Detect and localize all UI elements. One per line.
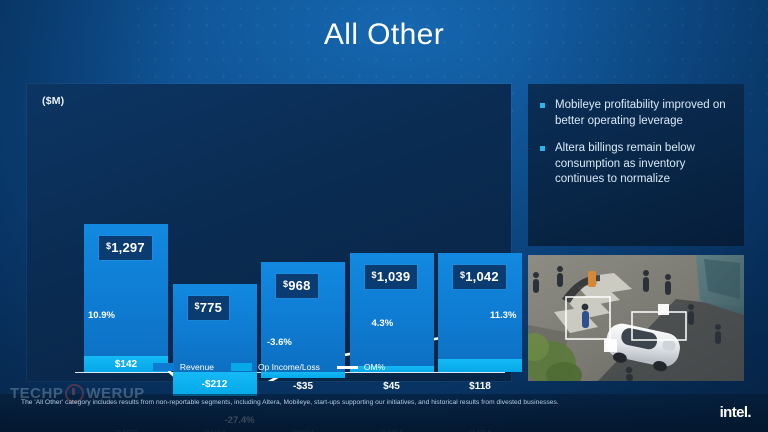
om-percent-label: 4.3% bbox=[372, 318, 394, 329]
chart-plot-area: $1,297$14210.9%Q4'23$775-$212-27.4%Q1'24… bbox=[27, 84, 511, 381]
op-income-value-label: $118 bbox=[438, 381, 522, 392]
op-income-value-label: $45 bbox=[350, 381, 434, 392]
intel-logo: intel. bbox=[720, 404, 751, 421]
chart-panel: ($M) $1,297$14210.9%Q4'23$775-$212-27.4%… bbox=[27, 84, 511, 381]
bullet-square-icon bbox=[540, 103, 545, 108]
op-income-value-label: -$212 bbox=[173, 379, 257, 390]
legend-label-revenue: Revenue bbox=[180, 362, 214, 372]
photo-illustration bbox=[528, 255, 744, 381]
legend-item-op-income: Op Income/Loss bbox=[231, 362, 320, 372]
footnote-text: The 'All Other' category includes result… bbox=[21, 399, 671, 407]
bullet-text: Mobileye profitability improved on bette… bbox=[555, 99, 726, 127]
legend-item-om-percent: OM% bbox=[337, 362, 385, 372]
bullet-text: Altera billings remain below consumption… bbox=[555, 142, 695, 186]
op-income-swatch-icon bbox=[231, 363, 252, 371]
om-percent-label: 10.9% bbox=[88, 310, 115, 321]
revenue-value-label: $968 bbox=[276, 274, 318, 298]
highlights-panel: Mobileye profitability improved on bette… bbox=[528, 84, 744, 246]
list-item: Altera billings remain below consumption… bbox=[540, 141, 731, 189]
mobileye-street-detection-photo bbox=[528, 255, 744, 381]
om-line-swatch-icon bbox=[337, 366, 358, 369]
op-income-bar bbox=[261, 372, 345, 378]
page-title: All Other bbox=[0, 18, 768, 52]
revenue-value-label: $1,297 bbox=[99, 236, 152, 260]
revenue-value-label: $775 bbox=[188, 296, 230, 320]
bullet-square-icon bbox=[540, 146, 545, 151]
highlights-list: Mobileye profitability improved on bette… bbox=[528, 84, 744, 188]
op-income-value-label: -$35 bbox=[261, 381, 345, 392]
om-percent-label: -3.6% bbox=[267, 337, 292, 348]
legend-label-op-income: Op Income/Loss bbox=[258, 362, 320, 372]
revenue-swatch-icon bbox=[153, 363, 174, 371]
revenue-value-label: $1,042 bbox=[453, 265, 506, 289]
chart-legend: Revenue Op Income/Loss OM% bbox=[27, 362, 511, 372]
revenue-value-label: $1,039 bbox=[365, 265, 418, 289]
legend-label-om-percent: OM% bbox=[364, 362, 385, 372]
om-percent-label: 11.3% bbox=[490, 310, 516, 321]
slide-root: All Other ($M) $1,297$14210.9%Q4'23$775-… bbox=[0, 0, 768, 432]
legend-item-revenue: Revenue bbox=[153, 362, 214, 372]
list-item: Mobileye profitability improved on bette… bbox=[540, 98, 731, 130]
